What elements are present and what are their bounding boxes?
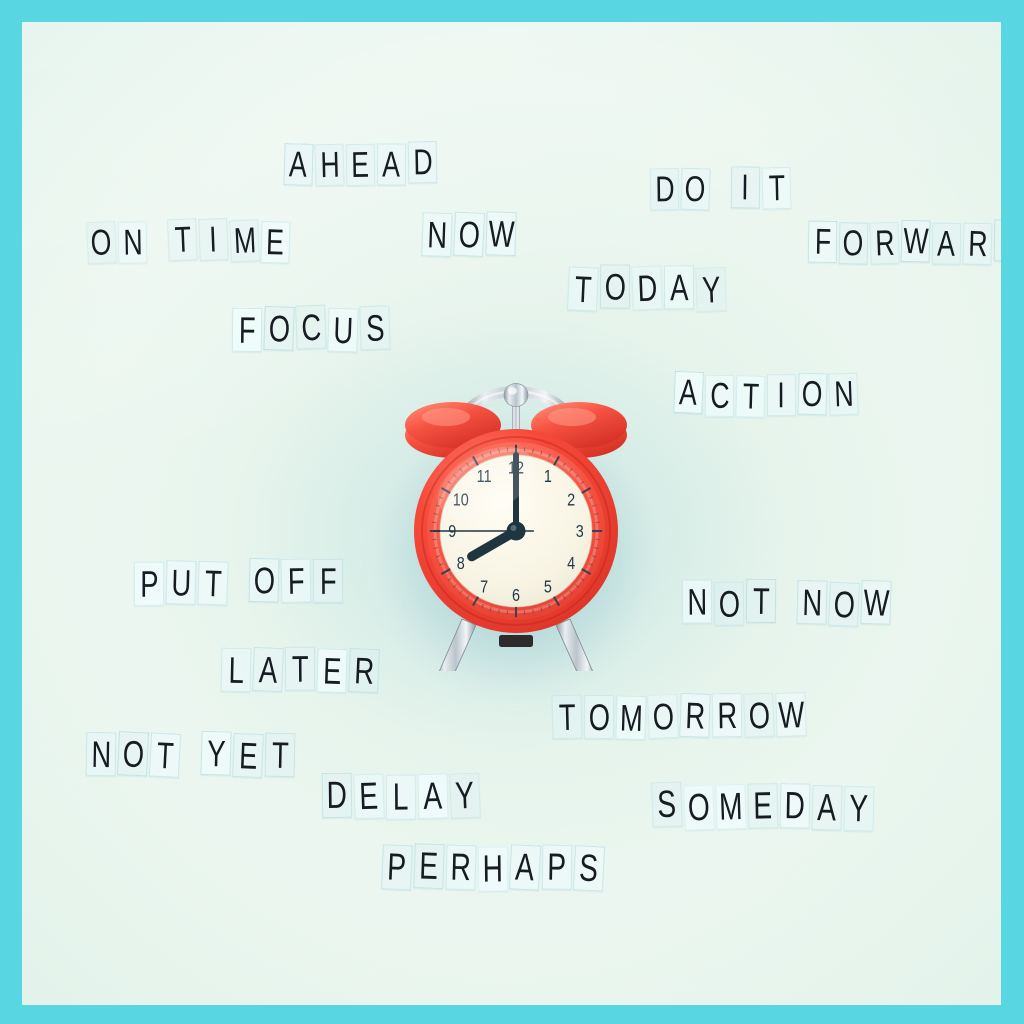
letter-tile: A xyxy=(283,143,313,186)
letter-glyph: A xyxy=(937,226,955,262)
letter-glyph: N xyxy=(833,376,853,413)
letter-glyph: O xyxy=(718,585,740,622)
letter-glyph: A xyxy=(423,777,443,815)
letter-tile: Y xyxy=(449,773,481,819)
letter-glyph: A xyxy=(289,146,308,182)
svg-text:5: 5 xyxy=(544,577,552,597)
letter-glyph: A xyxy=(670,269,688,306)
letter-tile: I xyxy=(731,166,760,208)
letter-tile: R xyxy=(445,845,476,891)
letter-tile: C xyxy=(295,305,327,350)
letter-glyph: O xyxy=(604,268,626,305)
letter-tile: O xyxy=(743,693,775,738)
letter-glyph: W xyxy=(903,223,929,260)
letter-tile: L xyxy=(221,648,252,693)
letter-tile: T xyxy=(197,561,229,606)
letter-tile: M xyxy=(615,695,646,740)
svg-text:1: 1 xyxy=(544,467,552,487)
letter-glyph: Y xyxy=(455,776,475,815)
letter-tile: A xyxy=(664,265,694,309)
letter-glyph: D xyxy=(655,171,675,207)
letter-glyph: I xyxy=(742,169,750,205)
letter-tile: O xyxy=(584,695,614,739)
letter-tile: U xyxy=(165,560,196,605)
letter-glyph: E xyxy=(419,847,439,886)
letter-glyph: O xyxy=(685,171,707,208)
letter-tile: O xyxy=(828,582,860,627)
letter-glyph: W xyxy=(863,583,890,621)
letter-glyph: D xyxy=(636,269,657,307)
word-now: NOW xyxy=(422,213,518,258)
letter-glyph: M xyxy=(719,787,744,826)
letter-tile-space xyxy=(712,168,729,210)
letter-tile: A xyxy=(252,647,284,692)
letter-tile: T xyxy=(149,732,181,777)
letter-glyph: I xyxy=(778,377,785,413)
letter-tile: F xyxy=(313,559,343,603)
letter-tile: Y xyxy=(200,731,231,776)
alarm-clock-svg: 123456789101112 xyxy=(381,341,651,671)
letter-tile: O xyxy=(839,222,869,265)
letter-glyph: T xyxy=(156,736,175,774)
word-delay: DELAY xyxy=(322,773,482,819)
letter-tile: E xyxy=(748,783,779,829)
letter-tile: S xyxy=(651,781,683,827)
letter-tile: O xyxy=(263,306,294,351)
letter-glyph: A xyxy=(515,848,536,887)
word-action: ACTION xyxy=(674,373,860,416)
letter-tile: I xyxy=(198,218,229,261)
letter-tile: D xyxy=(322,773,353,818)
letter-glyph: N xyxy=(802,583,823,621)
letter-tile: T xyxy=(746,579,776,623)
letter-glyph: A xyxy=(383,146,401,182)
letter-tile: H xyxy=(478,846,508,891)
word-perhaps: PERHAPS xyxy=(382,844,606,891)
letter-glyph: O xyxy=(253,562,275,599)
letter-tile: A xyxy=(377,143,406,185)
letter-glyph: T xyxy=(174,221,192,258)
letter-glyph: P xyxy=(547,848,566,886)
letter-glyph: R xyxy=(684,696,705,734)
letter-tile: H xyxy=(314,144,344,187)
letter-glyph: P xyxy=(140,565,158,602)
letter-glyph: E xyxy=(322,652,341,690)
word-tomorrow: TOMORROW xyxy=(552,693,808,738)
word-focus: FOCUS xyxy=(232,306,392,351)
letter-glyph: W xyxy=(488,215,515,253)
word-someday: SOMEDAY xyxy=(652,783,876,829)
photo-board: AHEADDOITONTIMENOWFORWARDTODAYFOCUSACTIO… xyxy=(22,22,1001,1005)
letter-glyph: O xyxy=(748,696,771,734)
letter-glyph: D xyxy=(785,787,806,825)
svg-text:4: 4 xyxy=(567,554,575,574)
letter-tile: T xyxy=(761,167,791,210)
letter-tile: O xyxy=(453,212,485,257)
letter-glyph: S xyxy=(657,785,677,824)
letter-glyph: O xyxy=(122,735,145,773)
word-put-off: PUTOFF xyxy=(134,559,345,604)
word-forward: FORWARD xyxy=(808,221,1001,265)
letter-tile: P xyxy=(542,845,573,890)
letter-glyph: R xyxy=(717,697,737,734)
letter-tile: E xyxy=(353,773,385,819)
letter-tile-space xyxy=(182,733,199,777)
letter-glyph: U xyxy=(171,564,192,601)
letter-tile: M xyxy=(229,219,260,262)
letter-tile: W xyxy=(485,211,516,256)
letter-glyph: T xyxy=(271,736,288,773)
letter-glyph: Y xyxy=(849,790,869,828)
letter-tile: E xyxy=(413,843,444,889)
letter-tile: R xyxy=(712,693,743,737)
letter-glyph: D xyxy=(999,222,1001,258)
letter-glyph: C xyxy=(710,378,729,414)
letter-tile: O xyxy=(680,168,710,211)
letter-tile: N xyxy=(118,221,148,263)
letter-glyph: T xyxy=(574,270,592,308)
letter-glyph: T xyxy=(742,378,759,414)
word-today: TODAY xyxy=(568,266,728,311)
letter-glyph: H xyxy=(483,850,504,888)
letter-glyph: R xyxy=(353,652,374,690)
letter-glyph: O xyxy=(832,585,855,623)
letter-glyph: O xyxy=(268,310,291,348)
letter-glyph: L xyxy=(393,778,409,816)
word-on-time: ONTIME xyxy=(87,219,292,262)
letter-tile: S xyxy=(573,845,605,891)
letter-glyph: M xyxy=(619,699,643,737)
letter-tile: T xyxy=(735,375,765,418)
letter-tile: A xyxy=(673,371,704,414)
letter-tile: F xyxy=(232,308,262,352)
letter-glyph: T xyxy=(752,582,769,619)
letter-tile: P xyxy=(381,844,413,890)
letter-glyph: A xyxy=(817,789,837,827)
letter-tile: T xyxy=(265,733,296,778)
letter-glyph: D xyxy=(327,776,348,814)
letter-tile: R xyxy=(962,222,992,265)
letter-glyph: F xyxy=(238,311,255,348)
letter-glyph: N xyxy=(91,735,111,772)
letter-tile: A xyxy=(509,844,541,890)
letter-glyph: F xyxy=(320,562,337,599)
letter-glyph: O xyxy=(652,697,675,735)
letter-glyph: E xyxy=(351,147,369,183)
letter-tile: N xyxy=(682,579,712,623)
letter-tile: D xyxy=(650,168,680,210)
clock-center-cap xyxy=(507,522,526,541)
letter-tile: U xyxy=(327,308,358,353)
letter-tile: T xyxy=(167,218,198,261)
letter-tile-space xyxy=(778,581,795,625)
letter-glyph: T xyxy=(558,698,576,735)
word-later: LATER xyxy=(221,647,381,692)
letter-tile: T xyxy=(567,266,599,311)
letter-glyph: O xyxy=(843,225,864,261)
letter-glyph: W xyxy=(777,696,804,734)
letter-glyph: I xyxy=(209,221,218,257)
letter-tile: W xyxy=(775,692,806,737)
letter-tile: N xyxy=(828,373,858,416)
letter-tile: O xyxy=(86,221,117,264)
letter-glyph: Y xyxy=(206,735,225,772)
letter-tile: C xyxy=(705,375,734,417)
letter-glyph: E xyxy=(753,787,772,825)
letter-glyph: P xyxy=(387,848,407,887)
letter-glyph: M xyxy=(233,222,257,259)
letter-glyph: E xyxy=(359,777,379,816)
letter-tile: W xyxy=(860,580,891,625)
letter-tile: I xyxy=(767,374,796,416)
letter-glyph: S xyxy=(579,849,600,888)
letter-glyph: E xyxy=(238,737,258,775)
letter-tile: E xyxy=(232,733,264,778)
letter-glyph: A xyxy=(679,374,698,411)
letter-tile: D xyxy=(408,141,438,184)
letter-tile: D xyxy=(631,265,663,310)
letter-tile: N xyxy=(86,732,117,777)
letter-tile: Y xyxy=(844,786,875,832)
letter-tile: E xyxy=(316,648,347,693)
letter-glyph: T xyxy=(768,170,785,206)
letter-tile: A xyxy=(932,223,962,265)
letter-tile: O xyxy=(714,581,744,625)
letter-glyph: L xyxy=(228,651,244,688)
letter-glyph: A xyxy=(258,651,278,689)
letter-tile: P xyxy=(134,562,164,606)
svg-text:8: 8 xyxy=(457,554,465,574)
letter-tile: O xyxy=(647,694,679,739)
letter-glyph: O xyxy=(687,788,710,827)
letter-tile: W xyxy=(901,220,931,263)
letter-tile: R xyxy=(869,222,899,265)
word-ahead: AHEAD xyxy=(284,142,439,186)
letter-tile: D xyxy=(994,219,1001,261)
letter-glyph: C xyxy=(300,308,321,346)
svg-text:2: 2 xyxy=(567,490,575,510)
letter-glyph: Y xyxy=(701,271,721,309)
alarm-clock: 123456789101112 xyxy=(381,341,651,671)
photo-frame: AHEADDOITONTIMENOWFORWARDTODAYFOCUSACTIO… xyxy=(0,0,1024,1024)
letter-tile: N xyxy=(796,580,827,625)
letter-glyph: N xyxy=(687,583,707,620)
letter-glyph: T xyxy=(204,564,222,602)
letter-tile: T xyxy=(285,647,315,691)
letter-tile: M xyxy=(715,784,746,830)
letter-glyph: F xyxy=(287,562,304,599)
letter-tile: F xyxy=(808,221,838,263)
svg-text:3: 3 xyxy=(576,522,584,542)
letter-tile: D xyxy=(780,783,811,829)
letter-tile: F xyxy=(281,558,312,603)
letter-glyph: R xyxy=(967,226,987,263)
letter-glyph: O xyxy=(588,698,610,735)
letter-glyph: N xyxy=(123,224,143,260)
letter-glyph: T xyxy=(291,650,308,687)
letter-glyph: O xyxy=(90,224,112,261)
letter-tile: O xyxy=(797,373,827,416)
letter-glyph: U xyxy=(332,311,353,349)
svg-text:6: 6 xyxy=(512,585,520,605)
letter-glyph: O xyxy=(458,215,481,253)
letter-tile-space xyxy=(149,220,166,262)
letter-tile: A xyxy=(811,785,842,831)
word-not-now: NOTNOW xyxy=(682,580,893,625)
letter-glyph: D xyxy=(413,144,433,180)
letter-tile: R xyxy=(679,693,711,738)
letter-tile: O xyxy=(600,264,630,308)
letter-tile: A xyxy=(417,773,448,819)
letter-tile: O xyxy=(683,785,715,831)
letter-glyph: F xyxy=(814,224,831,260)
letter-tile: O xyxy=(249,558,280,603)
letter-glyph: R xyxy=(874,225,894,262)
letter-tile: T xyxy=(552,695,583,740)
letter-glyph: N xyxy=(426,216,447,254)
letter-tile: E xyxy=(346,144,376,186)
svg-text:7: 7 xyxy=(480,577,488,597)
letter-glyph: H xyxy=(319,147,339,183)
letter-glyph: E xyxy=(266,224,285,261)
letter-tile: E xyxy=(260,221,290,264)
letter-tile-space xyxy=(230,560,247,604)
word-do-it: DOIT xyxy=(650,168,793,211)
letter-tile: O xyxy=(117,731,149,776)
word-not-yet: NOTYET xyxy=(86,732,297,777)
letter-glyph: O xyxy=(802,376,824,413)
clock-hammer-knob xyxy=(504,384,528,407)
letter-tile: N xyxy=(421,212,452,257)
letter-tile: Y xyxy=(695,267,727,312)
letter-glyph: R xyxy=(450,848,471,886)
letter-tile: R xyxy=(348,648,380,693)
letter-tile: L xyxy=(386,775,416,820)
